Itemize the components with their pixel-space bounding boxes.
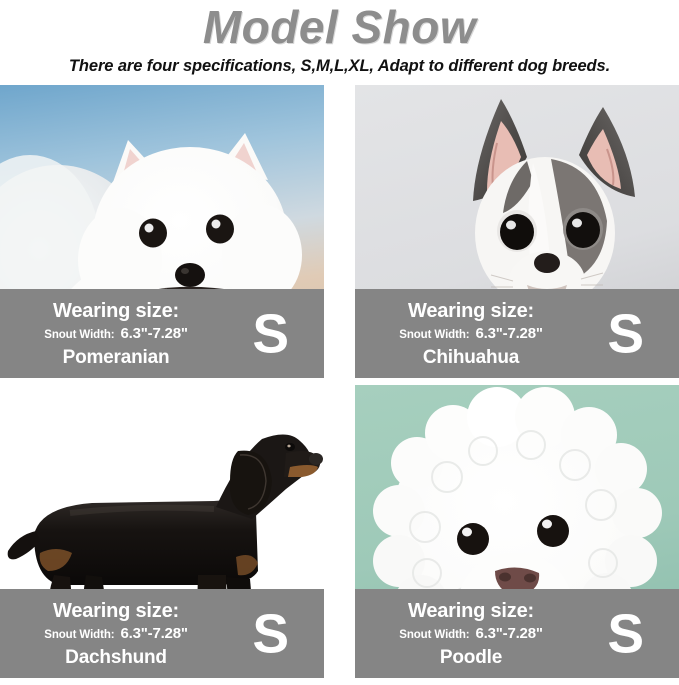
page-title: Model Show <box>0 2 679 52</box>
breed-card-grid: Wearing size: Snout Width: 6.3"-7.28" Po… <box>0 85 679 685</box>
wearing-size-label: Wearing size: <box>408 299 534 323</box>
wearing-size-label: Wearing size: <box>53 299 179 323</box>
snout-width-row: Snout Width: 6.3"-7.28" <box>399 624 543 645</box>
breed-card-chihuahua: Wearing size: Snout Width: 6.3"-7.28" Ch… <box>355 85 679 378</box>
size-letter: S <box>252 606 288 661</box>
size-band-text: Wearing size: Snout Width: 6.3"-7.28" Po… <box>0 289 232 378</box>
header: Model Show There are four specifications… <box>0 0 679 77</box>
model-show-infographic: Model Show There are four specifications… <box>0 0 679 685</box>
breed-name: Poodle <box>440 646 502 670</box>
size-band: Wearing size: Snout Width: 6.3"-7.28" Da… <box>0 589 324 678</box>
snout-width-label: Snout Width: <box>44 625 114 645</box>
snout-width-label: Snout Width: <box>44 325 114 345</box>
snout-width-value: 6.3"-7.28" <box>475 324 542 344</box>
size-band-text: Wearing size: Snout Width: 6.3"-7.28" Da… <box>0 589 232 678</box>
breed-card-pomeranian: Wearing size: Snout Width: 6.3"-7.28" Po… <box>0 85 324 378</box>
breed-card-dachshund: Wearing size: Snout Width: 6.3"-7.28" Da… <box>0 385 324 678</box>
snout-width-row: Snout Width: 6.3"-7.28" <box>399 324 543 345</box>
wearing-size-label: Wearing size: <box>408 599 534 623</box>
snout-width-value: 6.3"-7.28" <box>120 624 187 644</box>
breed-name: Pomeranian <box>63 346 170 370</box>
snout-width-value: 6.3"-7.28" <box>475 624 542 644</box>
wearing-size-label: Wearing size: <box>53 599 179 623</box>
snout-width-value: 6.3"-7.28" <box>120 324 187 344</box>
snout-width-label: Snout Width: <box>399 325 469 345</box>
snout-width-row: Snout Width: 6.3"-7.28" <box>44 324 188 345</box>
size-band-text: Wearing size: Snout Width: 6.3"-7.28" Ch… <box>355 289 587 378</box>
breed-card-poodle: Wearing size: Snout Width: 6.3"-7.28" Po… <box>355 385 679 678</box>
size-band: Wearing size: Snout Width: 6.3"-7.28" Po… <box>0 289 324 378</box>
snout-width-row: Snout Width: 6.3"-7.28" <box>44 624 188 645</box>
size-band: Wearing size: Snout Width: 6.3"-7.28" Po… <box>355 589 679 678</box>
breed-name: Chihuahua <box>423 346 519 370</box>
page-subtitle: There are four specifications, S,M,L,XL,… <box>0 55 679 77</box>
size-letter: S <box>607 306 643 361</box>
size-band-text: Wearing size: Snout Width: 6.3"-7.28" Po… <box>355 589 587 678</box>
size-letter: S <box>252 306 288 361</box>
breed-name: Dachshund <box>65 646 167 670</box>
size-band: Wearing size: Snout Width: 6.3"-7.28" Ch… <box>355 289 679 378</box>
snout-width-label: Snout Width: <box>399 625 469 645</box>
size-letter: S <box>607 606 643 661</box>
